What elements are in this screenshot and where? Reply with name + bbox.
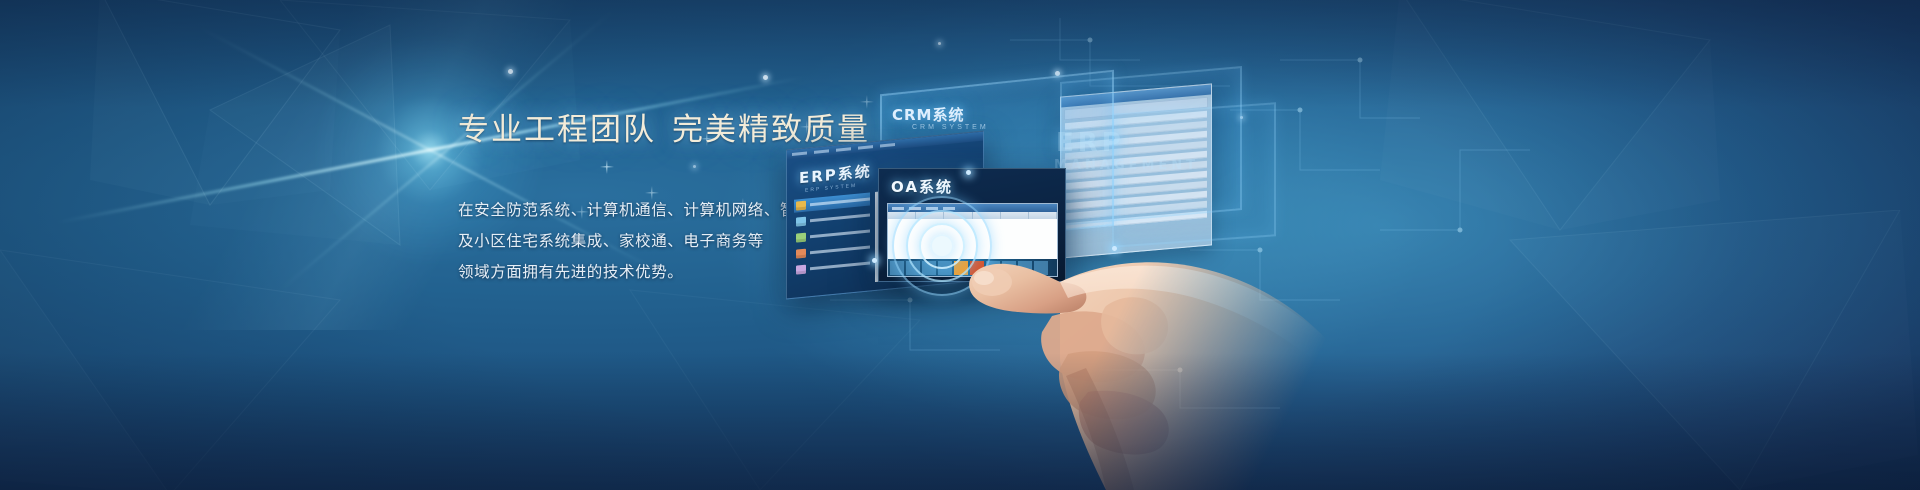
hero-banner: 专业工程团队完美精致质量 在安全防范系统、计算机通信、计算机网络、智能大厦 及小…	[0, 0, 1920, 490]
background-vignette	[0, 0, 1920, 490]
